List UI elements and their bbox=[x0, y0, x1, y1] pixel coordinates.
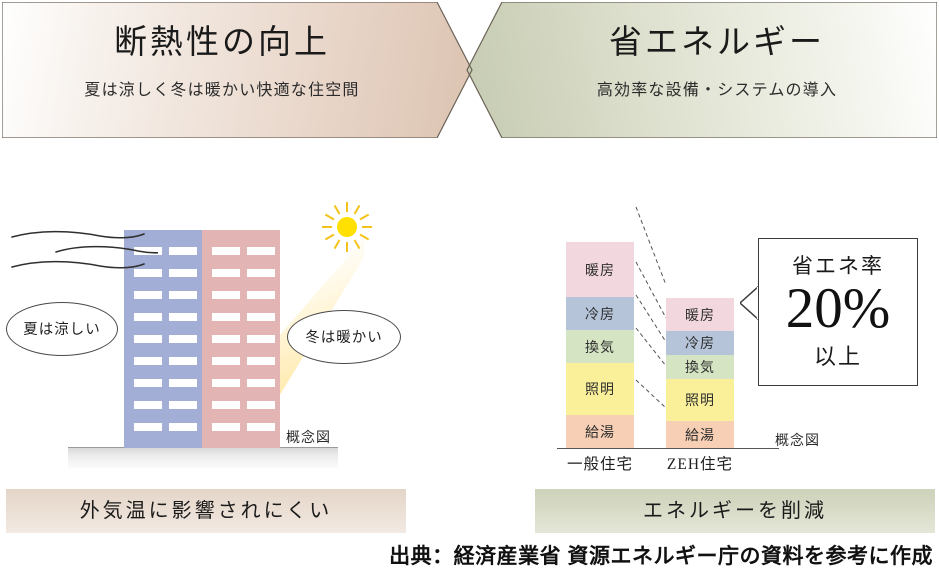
bar-segment-冷房: 冷房 bbox=[566, 297, 634, 330]
conceptual-note-right: 概念図 bbox=[775, 430, 820, 450]
sun-icon bbox=[322, 202, 372, 252]
banner-energy-saving: 省エネルギー 高効率な設備・システムの導入 bbox=[467, 2, 937, 138]
header-banner-row: 断熱性の向上 夏は涼しく冬は暖かい快適な住空間 省エネルギー 高効率な設備・シス… bbox=[0, 0, 939, 140]
building-window bbox=[134, 401, 162, 409]
banner-insulation: 断熱性の向上 夏は涼しく冬は暖かい快適な住空間 bbox=[2, 2, 472, 138]
building-window bbox=[134, 357, 162, 365]
building-window bbox=[134, 379, 162, 387]
building-window bbox=[247, 401, 275, 409]
building-window bbox=[169, 291, 197, 299]
source-credit: 出典：経済産業省 資源エネルギー庁の資料を参考に作成 bbox=[0, 540, 933, 570]
callout-top-label: 省エネ率 bbox=[759, 250, 917, 280]
bar-segment-給湯: 給湯 bbox=[666, 421, 734, 448]
sun-core bbox=[337, 217, 357, 237]
building-window bbox=[247, 291, 275, 299]
building-window bbox=[247, 423, 275, 431]
insulation-illustration: 夏は涼しい 冬は暖かい 概念図 bbox=[0, 180, 440, 480]
wind-lines-icon bbox=[8, 228, 158, 274]
category-label-zeh: ZEH住宅 bbox=[648, 452, 752, 474]
banner-insulation-content: 断熱性の向上 夏は涼しく冬は暖かい快適な住空間 bbox=[2, 2, 442, 100]
building-window bbox=[169, 357, 197, 365]
bubble-winter-warm: 冬は暖かい bbox=[287, 310, 401, 364]
building-window bbox=[247, 379, 275, 387]
building-window bbox=[169, 379, 197, 387]
bar-segment-暖房: 暖房 bbox=[566, 242, 634, 297]
callout-tail bbox=[740, 286, 759, 320]
building-window bbox=[247, 269, 275, 277]
bar-segment-label: 冷房 bbox=[585, 304, 615, 324]
chart-axis-line bbox=[557, 448, 779, 449]
building-window bbox=[212, 357, 240, 365]
bar-segment-label: 暖房 bbox=[585, 260, 615, 280]
bar-zeh-house: 暖房冷房換気照明給湯 bbox=[666, 298, 734, 448]
banner-energy-saving-content: 省エネルギー 高効率な設備・システムの導入 bbox=[497, 2, 937, 100]
building-window bbox=[169, 247, 197, 255]
banner-insulation-title: 断熱性の向上 bbox=[2, 24, 442, 64]
building-window bbox=[134, 291, 162, 299]
bar-segment-label: 給湯 bbox=[685, 425, 715, 445]
banner-energy-saving-title: 省エネルギー bbox=[497, 24, 937, 64]
energy-chart: 暖房冷房換気照明給湯 暖房冷房換気照明給湯 一般住宅 ZEH住宅 省エネ率 20… bbox=[500, 180, 939, 480]
bar-segment-給湯: 給湯 bbox=[566, 415, 634, 448]
bar-segment-label: 暖房 bbox=[685, 305, 715, 325]
building-window bbox=[169, 335, 197, 343]
bar-segment-冷房: 冷房 bbox=[666, 331, 734, 355]
conceptual-note-left: 概念図 bbox=[286, 427, 331, 447]
building-window bbox=[169, 423, 197, 431]
banner-energy-saving-subtitle: 高効率な設備・システムの導入 bbox=[497, 76, 937, 100]
bar-segment-label: 換気 bbox=[585, 337, 615, 357]
caption-insulation: 外気温に影響されにくい bbox=[6, 489, 406, 533]
bubble-summer-label: 夏は涼しい bbox=[23, 322, 101, 338]
callout-bottom-label: 以上 bbox=[759, 339, 917, 371]
building-window bbox=[247, 247, 275, 255]
bar-segment-label: 換気 bbox=[685, 357, 715, 377]
bar-segment-label: 冷房 bbox=[685, 333, 715, 353]
bar-segment-換気: 換気 bbox=[566, 330, 634, 363]
building-window bbox=[134, 313, 162, 321]
ground-shadow bbox=[68, 448, 338, 468]
building-window bbox=[247, 313, 275, 321]
building-window bbox=[247, 335, 275, 343]
building-window bbox=[212, 313, 240, 321]
building-window bbox=[212, 291, 240, 299]
building-window bbox=[212, 269, 240, 277]
category-label-general: 一般住宅 bbox=[548, 452, 652, 474]
bar-segment-暖房: 暖房 bbox=[666, 298, 734, 331]
building-window bbox=[169, 269, 197, 277]
bubble-summer-cool: 夏は涼しい bbox=[6, 302, 118, 356]
building-window bbox=[134, 423, 162, 431]
building-window bbox=[134, 335, 162, 343]
bar-general-house: 暖房冷房換気照明給湯 bbox=[566, 242, 634, 448]
bubble-winter-label: 冬は暖かい bbox=[305, 330, 383, 346]
bar-segment-label: 照明 bbox=[685, 390, 715, 410]
caption-energy: エネルギーを削減 bbox=[535, 489, 935, 533]
bar-segment-label: 照明 bbox=[585, 379, 615, 399]
building-window bbox=[169, 313, 197, 321]
building-window bbox=[247, 357, 275, 365]
banner-insulation-subtitle: 夏は涼しく冬は暖かい快適な住空間 bbox=[2, 76, 442, 100]
bar-segment-label: 給湯 bbox=[585, 422, 615, 442]
building-window bbox=[212, 335, 240, 343]
energy-saving-rate-callout: 省エネ率 20% 以上 bbox=[758, 238, 918, 386]
building-window bbox=[212, 379, 240, 387]
callout-percentage: 20% bbox=[759, 281, 917, 337]
bar-segment-照明: 照明 bbox=[666, 379, 734, 421]
building-window bbox=[169, 401, 197, 409]
building-window bbox=[212, 423, 240, 431]
building-window bbox=[212, 247, 240, 255]
bar-segment-照明: 照明 bbox=[566, 363, 634, 415]
bar-segment-換気: 換気 bbox=[666, 355, 734, 379]
building-window bbox=[212, 401, 240, 409]
